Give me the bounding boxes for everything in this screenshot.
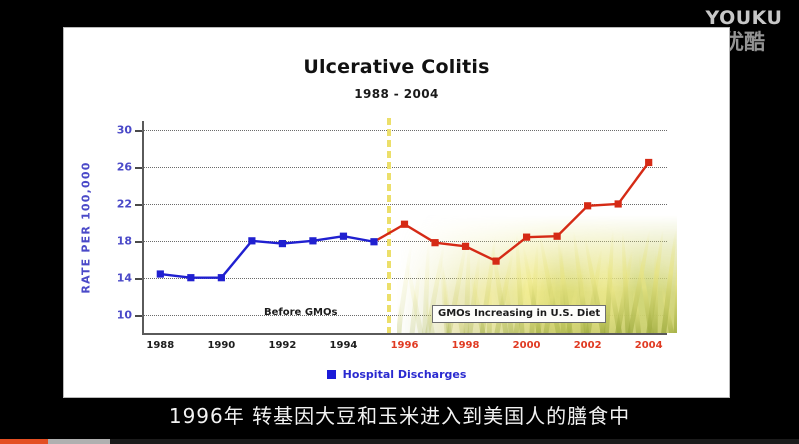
y-axis-tick-label: 22	[117, 197, 132, 210]
chart-legend: Hospital Discharges	[64, 368, 729, 381]
y-axis-tick	[135, 315, 142, 317]
data-point-marker	[431, 239, 438, 246]
y-axis-tick-label: 18	[117, 234, 132, 247]
chart-title: Ulcerative Colitis	[64, 56, 729, 78]
plot-area: 101418222630 Before GMOs GMOs Increasing…	[142, 121, 667, 333]
legend-blue-square-icon	[327, 370, 336, 379]
line-series-overlay	[142, 121, 667, 333]
series-line	[405, 162, 649, 261]
video-player-frame: YOUKU 优酷 Ulcerative Colitis 1988 - 2004 …	[0, 0, 799, 444]
x-axis-tick-label: 2002	[574, 340, 602, 351]
video-subtitle-caption: 1996年 转基因大豆和玉米进入到美国人的膳食中	[0, 400, 799, 429]
data-point-marker	[401, 221, 408, 228]
y-axis-tick	[135, 278, 142, 280]
series-bridge-line	[374, 224, 405, 242]
data-point-marker	[492, 258, 499, 265]
y-axis-tick-label: 10	[117, 308, 132, 321]
data-point-marker	[309, 237, 316, 244]
x-axis-tick-label: 1994	[330, 340, 358, 351]
annotation-gmos-increasing: GMOs Increasing in U.S. Diet	[432, 305, 606, 323]
data-point-marker	[554, 233, 561, 240]
data-point-marker	[340, 233, 347, 240]
chart-slide-panel: Ulcerative Colitis 1988 - 2004 RATE PER …	[63, 27, 730, 398]
y-axis-tick-label: 30	[117, 124, 132, 137]
x-axis-tick-label: 1996	[391, 340, 419, 351]
data-point-marker	[248, 237, 255, 244]
x-axis-tick-label: 1998	[452, 340, 480, 351]
y-axis-tick	[135, 204, 142, 206]
data-point-marker	[157, 270, 164, 277]
x-axis-tick-label: 2000	[513, 340, 541, 351]
data-point-marker	[523, 234, 530, 241]
data-point-marker	[370, 238, 377, 245]
video-progress-bar[interactable]	[0, 439, 799, 444]
x-axis-line	[142, 333, 667, 335]
data-point-marker	[187, 274, 194, 281]
y-axis-tick-label: 14	[117, 271, 132, 284]
y-axis-title-text: RATE PER 100,000	[80, 161, 93, 293]
x-axis-tick-label: 1992	[268, 340, 296, 351]
progress-played	[0, 439, 48, 444]
x-axis-labels-group: 198819901992199419961998200020022004	[142, 340, 667, 356]
data-point-marker	[218, 274, 225, 281]
y-axis-tick	[135, 130, 142, 132]
x-axis-tick-label: 2004	[635, 340, 663, 351]
y-axis-tick-label: 26	[117, 161, 132, 174]
data-point-marker	[615, 200, 622, 207]
chart-subtitle: 1988 - 2004	[64, 87, 729, 101]
y-axis-tick	[135, 167, 142, 169]
data-point-marker	[645, 159, 652, 166]
annotation-before-gmos: Before GMOs	[264, 307, 337, 318]
data-point-marker	[584, 202, 591, 209]
y-axis-title: RATE PER 100,000	[78, 121, 94, 333]
x-axis-tick-label: 1988	[146, 340, 174, 351]
legend-label-hospital-discharges: Hospital Discharges	[343, 368, 467, 381]
data-point-marker	[462, 243, 469, 250]
data-point-marker	[279, 240, 286, 247]
watermark-latin-text: YOUKU	[701, 8, 787, 29]
wheat-blade	[674, 248, 677, 333]
x-axis-tick-label: 1990	[207, 340, 235, 351]
series-line	[160, 236, 374, 277]
y-axis-tick	[135, 241, 142, 243]
